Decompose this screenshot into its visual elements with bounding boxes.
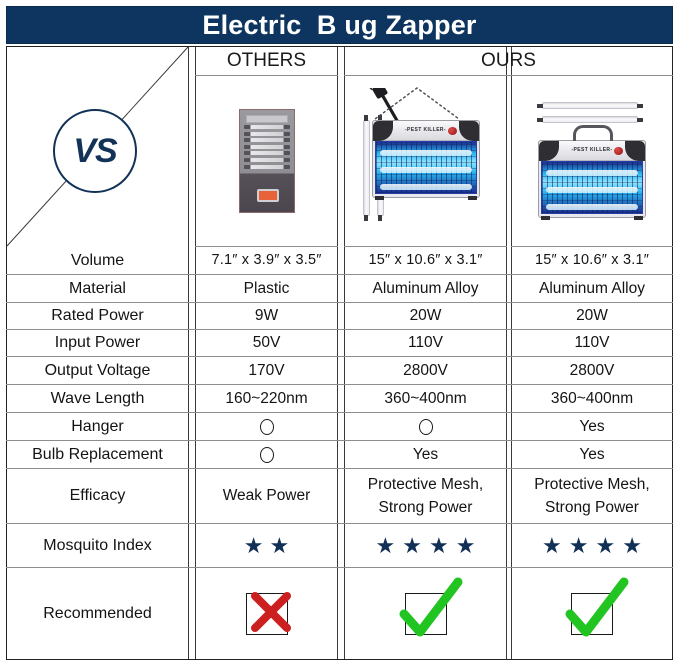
table-row: Wave Length 160~220nm 360~400nm 360~400n… [6, 385, 673, 413]
unit-foot [634, 216, 643, 220]
star-icon: ★ [402, 535, 422, 557]
star-icon: ★ [569, 535, 589, 557]
product-image-ours2: -PEST KILLER- [511, 76, 673, 247]
circle-mark-icon [419, 419, 433, 435]
cell-ours2 [511, 568, 673, 660]
table-row: Hanger Yes [6, 413, 673, 441]
cell-others [195, 441, 338, 468]
table-row: Input Power 50V 110V 110V [6, 330, 673, 357]
cell-ours1 [344, 568, 507, 660]
star-icon: ★ [622, 535, 642, 557]
row-label: Mosquito Index [6, 524, 189, 567]
cell-ours2-line2: Strong Power [545, 496, 639, 519]
comparison-infographic: Electric B ug Zapper OTHERS OURS VS [0, 0, 679, 666]
table-row-efficacy: Efficacy Weak Power Protective Mesh, Str… [6, 469, 673, 524]
comparison-table: OTHERS OURS VS [6, 46, 673, 660]
product-image-ours1: -PEST KILLER- [344, 76, 507, 247]
circle-mark-icon [260, 447, 274, 463]
table-row: Material Plastic Aluminum Alloy Aluminum… [6, 275, 673, 303]
star-icon: ★ [596, 535, 616, 557]
unit-foot [375, 196, 384, 200]
cell-ours2: 110V [511, 330, 673, 356]
cell-others: 50V [195, 330, 338, 356]
cell-others: Plastic [195, 275, 338, 302]
star-rating-ours1: ★★★★ [376, 535, 476, 557]
star-icon: ★ [270, 535, 290, 557]
cell-others [195, 413, 338, 440]
table-row: Volume 7.1″ x 3.9″ x 3.5″ 15″ x 10.6″ x … [6, 247, 673, 275]
row-label: Rated Power [6, 303, 189, 329]
circle-mark-icon [260, 419, 274, 435]
power-led-icon [448, 127, 457, 135]
row-label: Volume [6, 247, 189, 274]
cell-ours2-line1: Protective Mesh, [534, 473, 649, 496]
checkbox-ours2 [571, 593, 613, 635]
green-check-icon [560, 576, 632, 648]
ours2-unit-body: -PEST KILLER- [538, 140, 646, 218]
unit-brand-label: -PEST KILLER- [569, 147, 615, 153]
row-label: Recommended [6, 568, 189, 660]
spare-tube-icon [542, 116, 638, 123]
cell-ours1: 20W [344, 303, 507, 329]
cell-ours2: 2800V [511, 357, 673, 384]
checkbox-others [246, 593, 288, 635]
table-row: Rated Power 9W 20W 20W [6, 303, 673, 330]
cell-others [195, 568, 338, 660]
cell-others: 7.1″ x 3.9″ x 3.5″ [195, 247, 338, 274]
cell-ours2: Yes [511, 413, 673, 440]
row-label: Bulb Replacement [6, 441, 189, 468]
cell-ours1-line1: Protective Mesh, [368, 473, 483, 496]
table-row: Output Voltage 170V 2800V 2800V [6, 357, 673, 385]
table-row: Bulb Replacement Yes Yes [6, 441, 673, 469]
row-label: Efficacy [6, 469, 189, 523]
others-power-switch-icon [257, 189, 279, 202]
vs-badge-label: VS [73, 134, 116, 168]
cell-ours2: 20W [511, 303, 673, 329]
star-icon: ★ [429, 535, 449, 557]
cell-ours2: Yes [511, 441, 673, 468]
cell-others: Weak Power [195, 469, 338, 523]
vs-badge: VS [53, 109, 137, 193]
spare-tube-icon [542, 102, 638, 109]
star-icon: ★ [376, 535, 396, 557]
star-icon: ★ [244, 535, 264, 557]
star-icon: ★ [542, 535, 562, 557]
product-image-others [195, 76, 338, 247]
cell-ours1: Protective Mesh, Strong Power [344, 469, 507, 523]
cell-others: 9W [195, 303, 338, 329]
cell-ours1: 15″ x 10.6″ x 3.1″ [344, 247, 507, 274]
spare-tube-icon [363, 120, 370, 216]
cell-ours2: Protective Mesh, Strong Power [511, 469, 673, 523]
hanging-chain-icon [373, 86, 461, 120]
table-row-mosquito-index: Mosquito Index ★★ ★★★★ ★★★★ [6, 524, 673, 568]
protective-mesh-icon [541, 161, 643, 214]
power-led-icon [614, 147, 623, 155]
cell-ours1: Aluminum Alloy [344, 275, 507, 302]
ours1-unit-body: -PEST KILLER- [372, 120, 480, 198]
cell-ours1 [344, 413, 507, 440]
cell-others: 170V [195, 357, 338, 384]
others-vent-top [246, 115, 288, 123]
others-slats [244, 125, 290, 172]
protective-mesh-icon [375, 141, 477, 194]
cell-ours1: ★★★★ [344, 524, 507, 567]
cell-others: 160~220nm [195, 385, 338, 412]
ours1-zapper-icon: -PEST KILLER- [353, 86, 499, 236]
row-label: Output Voltage [6, 357, 189, 384]
star-icon: ★ [456, 535, 476, 557]
table-row-recommended: Recommended [6, 568, 673, 660]
checkbox-ours1 [405, 593, 447, 635]
column-header-others: OTHERS [195, 46, 338, 76]
column-header-ours: OURS [344, 46, 673, 76]
cell-ours1-line2: Strong Power [379, 496, 473, 519]
cell-others: ★★ [195, 524, 338, 567]
ours2-zapper-icon: -PEST KILLER- [518, 86, 666, 236]
cell-ours2: ★★★★ [511, 524, 673, 567]
row-label: Wave Length [6, 385, 189, 412]
row-label: Hanger [6, 413, 189, 440]
cell-ours1: 360~400nm [344, 385, 507, 412]
cell-ours1: 2800V [344, 357, 507, 384]
vs-cell: VS [6, 46, 189, 247]
cell-ours2: 15″ x 10.6″ x 3.1″ [511, 247, 673, 274]
star-rating-others: ★★ [244, 535, 289, 557]
unit-brand-label: -PEST KILLER- [403, 127, 449, 133]
others-zapper-icon [239, 109, 295, 213]
page-title: Electric B ug Zapper [202, 10, 476, 41]
row-label: Material [6, 275, 189, 302]
green-check-icon [394, 576, 466, 648]
unit-foot [468, 196, 477, 200]
cell-ours1: Yes [344, 441, 507, 468]
unit-foot [541, 216, 550, 220]
row-label: Input Power [6, 330, 189, 356]
title-bar: Electric B ug Zapper [6, 6, 673, 44]
star-rating-ours2: ★★★★ [542, 535, 642, 557]
cell-ours2: Aluminum Alloy [511, 275, 673, 302]
cell-ours1: 110V [344, 330, 507, 356]
cell-ours2: 360~400nm [511, 385, 673, 412]
red-cross-icon [235, 576, 307, 648]
